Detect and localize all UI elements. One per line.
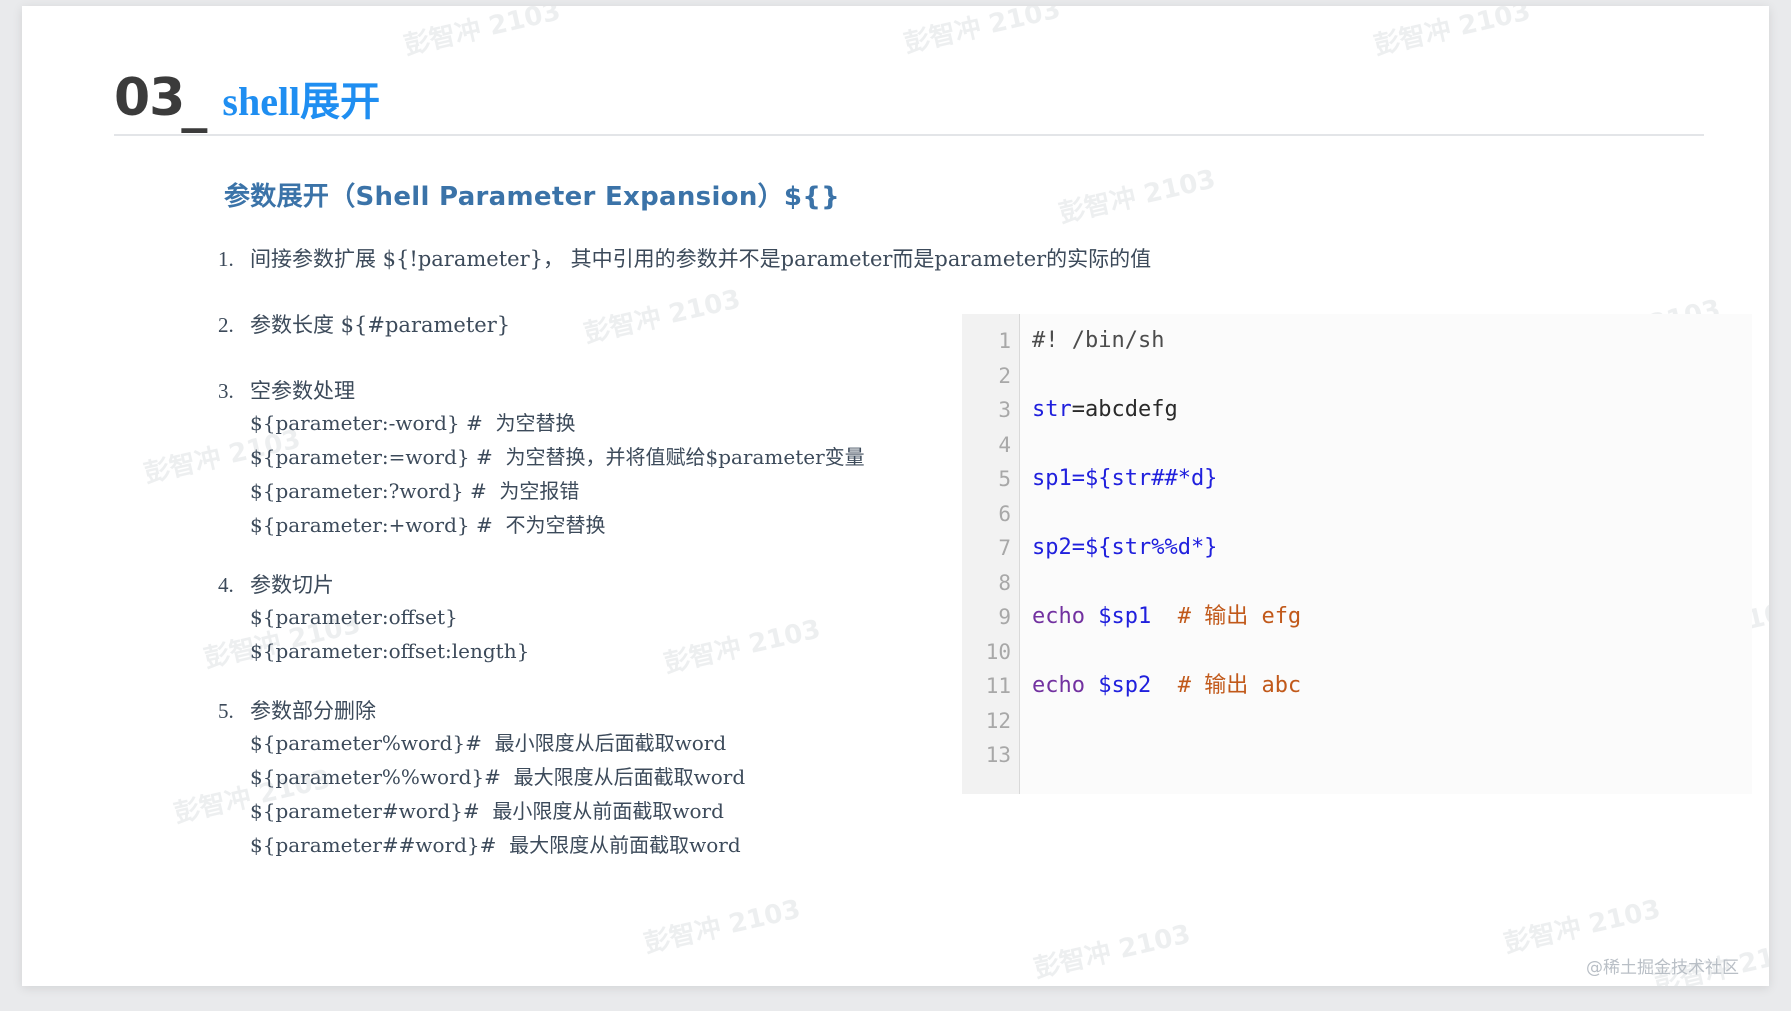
code-line-7: sp2=${str%%d*} xyxy=(1032,531,1752,566)
code-line-4 xyxy=(1032,428,1752,463)
list-subline: ${parameter:?word} # 为空报错 xyxy=(250,474,958,508)
line-number: 8 xyxy=(962,566,1019,601)
line-number: 13 xyxy=(962,738,1019,773)
watermark: 彭智冲 2103 xyxy=(1055,159,1219,231)
list-item-text: 间接参数扩展 ${!parameter}， 其中引用的参数并不是paramete… xyxy=(250,244,1151,274)
code-body[interactable]: #! /bin/sh str=abcdefg sp1=${str##*d} sp… xyxy=(1020,314,1752,794)
list-item: 1. 间接参数扩展 ${!parameter}， 其中引用的参数并不是param… xyxy=(218,244,958,274)
code-line-9: echo $sp1 # 输出 efg xyxy=(1032,600,1752,635)
line-number: 2 xyxy=(962,359,1019,394)
list-item-head: 3. 空参数处理 xyxy=(218,376,958,406)
list-item-head: 4. 参数切片 xyxy=(218,570,958,600)
list-subline: ${parameter:offset} xyxy=(250,600,958,634)
list-marker: 4. xyxy=(218,570,250,600)
code-token-variable: $sp2 xyxy=(1098,673,1151,698)
code-token-comment: # 输出 abc xyxy=(1151,673,1301,698)
list-item-text: 参数切片 xyxy=(250,570,334,600)
list-item-text: 参数长度 ${#parameter} xyxy=(250,310,510,340)
credit-watermark: @稀土掘金技术社区 xyxy=(1586,953,1739,978)
list-marker: 3. xyxy=(218,376,250,406)
code-line-6 xyxy=(1032,497,1752,532)
list-item-head: 1. 间接参数扩展 ${!parameter}， 其中引用的参数并不是param… xyxy=(218,244,958,274)
list-subline: ${parameter:+word} # 不为空替换 xyxy=(250,508,958,542)
spacer xyxy=(218,678,958,696)
watermark: 彭智冲 2103 xyxy=(1500,889,1664,961)
expansion-list: 1. 间接参数扩展 ${!parameter}， 其中引用的参数并不是param… xyxy=(218,244,958,872)
spacer xyxy=(218,552,958,570)
code-token-comment: #! /bin/sh xyxy=(1032,328,1164,353)
code-token-command: echo xyxy=(1032,673,1098,698)
code-line-2 xyxy=(1032,359,1752,394)
line-number: 4 xyxy=(962,428,1019,463)
list-marker: 2. xyxy=(218,310,250,340)
page-title: 03_shell展开 xyxy=(114,68,380,128)
code-token-expansion: sp2=${str%%d*} xyxy=(1032,535,1217,560)
line-number: 11 xyxy=(962,669,1019,704)
list-subline: ${parameter#word}# 最小限度从前面截取word xyxy=(250,794,958,828)
list-item: 4. 参数切片 ${parameter:offset} ${parameter:… xyxy=(218,570,958,668)
title-number: 03 xyxy=(114,68,184,128)
spacer xyxy=(218,284,958,310)
code-line-10 xyxy=(1032,635,1752,670)
list-subline: ${parameter:offset:length} xyxy=(250,634,958,668)
list-item-text: 参数部分删除 xyxy=(250,696,376,726)
line-number: 3 xyxy=(962,393,1019,428)
code-panel: 1 2 3 4 5 6 7 8 9 10 11 12 13 #! /bin/sh… xyxy=(962,314,1752,794)
code-line-13 xyxy=(1032,738,1752,773)
section-subtitle: 参数展开（Shell Parameter Expansion）${} xyxy=(224,176,840,213)
list-subline: ${parameter:-word} # 为空替换 xyxy=(250,406,958,440)
line-number: 9 xyxy=(962,600,1019,635)
code-line-8 xyxy=(1032,566,1752,601)
line-number: 7 xyxy=(962,531,1019,566)
code-line-3: str=abcdefg xyxy=(1032,393,1752,428)
line-number: 6 xyxy=(962,497,1019,532)
title-underscore: _ xyxy=(181,74,207,134)
code-token-assign: =abcdefg xyxy=(1072,397,1178,422)
list-item-text: 空参数处理 xyxy=(250,376,355,406)
code-token-variable: $sp1 xyxy=(1098,604,1151,629)
list-item: 3. 空参数处理 ${parameter:-word} # 为空替换 ${par… xyxy=(218,376,958,542)
slide-canvas: 彭智冲 2103 彭智冲 2103 彭智冲 2103 彭智冲 2103 彭智冲 … xyxy=(22,6,1769,986)
line-number: 1 xyxy=(962,324,1019,359)
list-marker: 1. xyxy=(218,244,250,274)
title-accent: shell展开 xyxy=(222,79,380,124)
watermark: 彭智冲 2103 xyxy=(1030,914,1194,986)
line-number: 5 xyxy=(962,462,1019,497)
code-line-12 xyxy=(1032,704,1752,739)
spacer xyxy=(218,350,958,376)
list-subline: ${parameter:=word} # 为空替换，并将值赋给$paramete… xyxy=(250,440,958,474)
line-number: 12 xyxy=(962,704,1019,739)
line-number: 10 xyxy=(962,635,1019,670)
list-item: 2. 参数长度 ${#parameter} xyxy=(218,310,958,340)
list-item-head: 5. 参数部分删除 xyxy=(218,696,958,726)
code-token-expansion: sp1=${str##*d} xyxy=(1032,466,1217,491)
list-subline: ${parameter##word}# 最大限度从前面截取word xyxy=(250,828,958,862)
list-subline: ${parameter%%word}# 最大限度从后面截取word xyxy=(250,760,958,794)
watermark: 彭智冲 2103 xyxy=(640,889,804,961)
code-line-1: #! /bin/sh xyxy=(1032,324,1752,359)
code-line-11: echo $sp2 # 输出 abc xyxy=(1032,669,1752,704)
code-gutter: 1 2 3 4 5 6 7 8 9 10 11 12 13 xyxy=(962,314,1020,794)
code-token-variable: str xyxy=(1032,397,1072,422)
list-item: 5. 参数部分删除 ${parameter%word}# 最小限度从后面截取wo… xyxy=(218,696,958,862)
title-divider xyxy=(114,134,1704,136)
code-line-5: sp1=${str##*d} xyxy=(1032,462,1752,497)
list-subline: ${parameter%word}# 最小限度从后面截取word xyxy=(250,726,958,760)
slide-header: 03_shell展开 xyxy=(22,6,1769,146)
list-item-head: 2. 参数长度 ${#parameter} xyxy=(218,310,958,340)
code-token-command: echo xyxy=(1032,604,1098,629)
list-marker: 5. xyxy=(218,696,250,726)
code-token-comment: # 输出 efg xyxy=(1151,604,1301,629)
